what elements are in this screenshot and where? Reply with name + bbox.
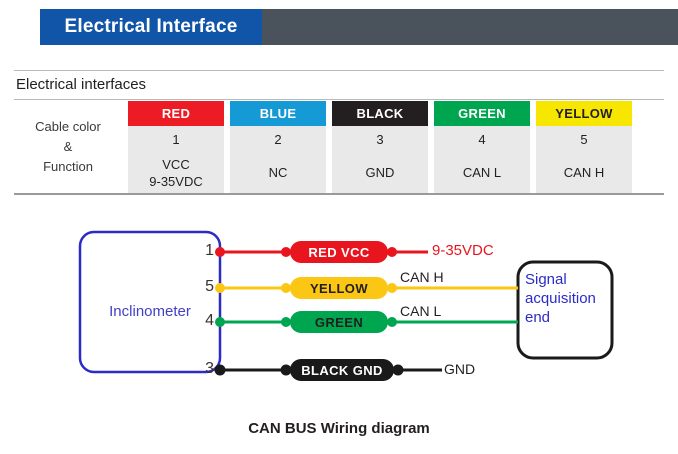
table-row-color-names: Cable color & Function RED BLUE BLACK GR… bbox=[14, 101, 632, 126]
color-cell-yellow: YELLOW bbox=[536, 101, 632, 126]
receiver-label-line-1: Signal bbox=[525, 270, 613, 289]
function-cell-blue: NC bbox=[230, 152, 326, 193]
pin-cell-2: 2 bbox=[230, 126, 326, 152]
table-rule-top bbox=[14, 99, 664, 100]
pin-cell-4: 4 bbox=[434, 126, 530, 152]
color-cell-green: GREEN bbox=[434, 101, 530, 126]
pin-cell-1: 1 bbox=[128, 126, 224, 152]
table-row-label: Cable color & Function bbox=[14, 101, 122, 193]
wire-dot-yellow-left bbox=[215, 283, 225, 293]
pin-number-5: 5 bbox=[196, 278, 214, 296]
signal-acquisition-label: Signal acquisition end bbox=[525, 270, 613, 327]
inclinometer-label: Inclinometer bbox=[88, 303, 212, 320]
color-cell-blue: BLUE bbox=[230, 101, 326, 126]
section-label: Electrical interfaces bbox=[16, 76, 146, 93]
pin-number-1: 1 bbox=[196, 242, 214, 260]
receiver-label-line-2: acquisition bbox=[525, 289, 613, 308]
receiver-label-line-3: end bbox=[525, 308, 613, 327]
electrical-interface-table: Cable color & Function RED BLUE BLACK GR… bbox=[8, 101, 638, 193]
label-can-l: CAN L bbox=[400, 303, 441, 319]
label-9-35vdc: 9-35VDC bbox=[432, 242, 494, 259]
header-banner: Electrical Interface bbox=[40, 9, 678, 45]
function-cell-yellow: CAN H bbox=[536, 152, 632, 193]
row-label-line-3: Function bbox=[14, 157, 122, 177]
wire-dot-black-left bbox=[215, 365, 226, 376]
section-divider-top bbox=[14, 70, 664, 71]
wire-pill-red: RED VCC bbox=[290, 241, 388, 263]
pin-cell-3: 3 bbox=[332, 126, 428, 152]
color-cell-red: RED bbox=[128, 101, 224, 126]
function-cell-red: VCC 9-35VDC bbox=[128, 152, 224, 193]
wire-pill-black: BLACK GND bbox=[290, 359, 394, 381]
color-label-yellow: YELLOW bbox=[555, 106, 612, 121]
color-label-black: BLACK bbox=[357, 106, 404, 121]
diagram-caption: CAN BUS Wiring diagram bbox=[0, 420, 678, 437]
function-line-voltage: 9-35VDC bbox=[128, 173, 224, 190]
function-cell-black: GND bbox=[332, 152, 428, 193]
color-label-green: GREEN bbox=[458, 106, 506, 121]
pin-number-3: 3 bbox=[196, 360, 214, 378]
row-label-line-2: & bbox=[14, 137, 122, 157]
label-gnd: GND bbox=[444, 361, 475, 377]
wire-pill-yellow: YELLOW bbox=[290, 277, 388, 299]
table-rule-bottom bbox=[14, 193, 664, 195]
color-cell-black: BLACK bbox=[332, 101, 428, 126]
wire-pill-green: GREEN bbox=[290, 311, 388, 333]
pin-number-4: 4 bbox=[196, 312, 214, 330]
function-line-vcc: VCC bbox=[128, 156, 224, 173]
color-label-blue: BLUE bbox=[260, 106, 297, 121]
wire-dot-green-left bbox=[215, 317, 225, 327]
header-title-box: Electrical Interface bbox=[40, 9, 262, 45]
function-cell-green: CAN L bbox=[434, 152, 530, 193]
wiring-diagram: Inclinometer Signal acquisition end 1 5 … bbox=[0, 215, 678, 400]
color-label-red: RED bbox=[162, 106, 190, 121]
wire-dot-red-left bbox=[215, 247, 225, 257]
pin-cell-5: 5 bbox=[536, 126, 632, 152]
header-title: Electrical Interface bbox=[65, 16, 238, 38]
label-can-h: CAN H bbox=[400, 269, 444, 285]
row-label-line-1: Cable color bbox=[14, 117, 122, 137]
